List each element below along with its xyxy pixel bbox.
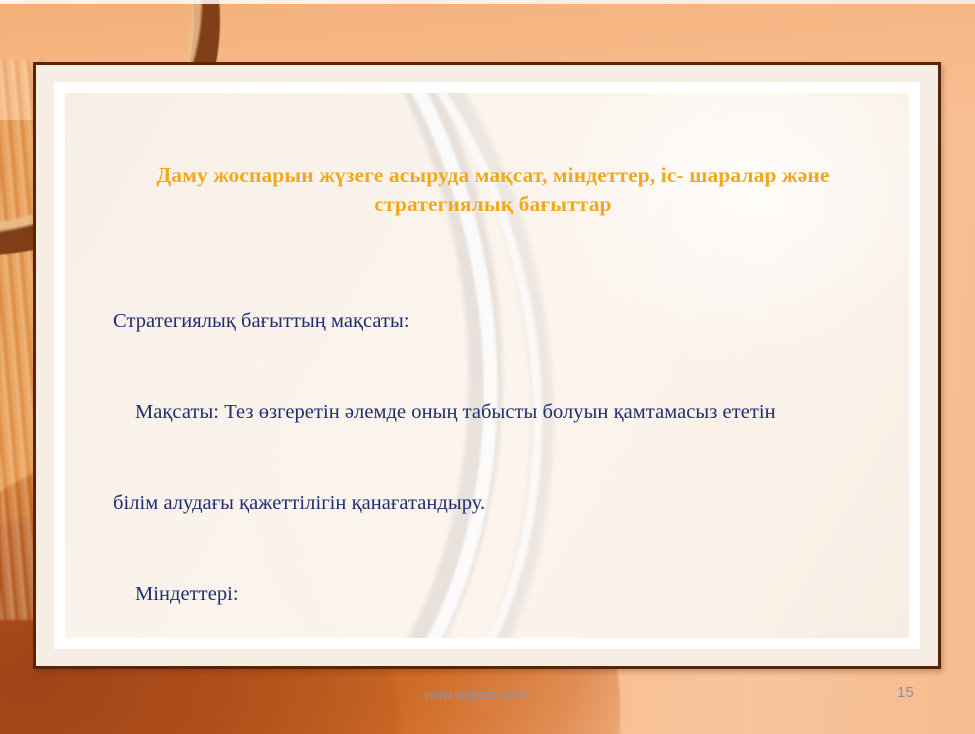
body-line: білім алудағы қажеттілігін қанағатандыру… xyxy=(113,488,879,518)
footer-website-label: www.website.com xyxy=(424,688,526,702)
background-top-highlight xyxy=(0,0,975,4)
slide-title-line: Даму жоспарын жүзеге асыруда мақсат, мін… xyxy=(157,163,830,187)
body-line: Мақсаты: Тез өзгеретін әлемде оның табыс… xyxy=(113,397,879,427)
slide-title: Даму жоспарын жүзеге асыруда мақсат, мін… xyxy=(107,161,879,219)
slide-frame: Даму жоспарын жүзеге асыруда мақсат, мін… xyxy=(33,62,941,669)
slide-content: Даму жоспарын жүзеге асыруда мақсат, мін… xyxy=(65,93,909,638)
footer-page-number: 15 xyxy=(897,684,914,701)
slide-title-line: стратегиялық бағыттар xyxy=(374,192,611,216)
slide: Даму жоспарын жүзеге асыруда мақсат, мін… xyxy=(0,0,975,734)
slide-body: Стратегиялық бағыттың мақсаты: Мақсаты: … xyxy=(113,245,879,649)
slide-inner-frame: Даму жоспарын жүзеге асыруда мақсат, мін… xyxy=(54,82,920,649)
body-line: Стратегиялық бағыттың мақсаты: xyxy=(113,306,879,336)
slide-footer: www.website.com 15 xyxy=(0,668,975,734)
body-line: Міндеттері: xyxy=(113,579,879,609)
